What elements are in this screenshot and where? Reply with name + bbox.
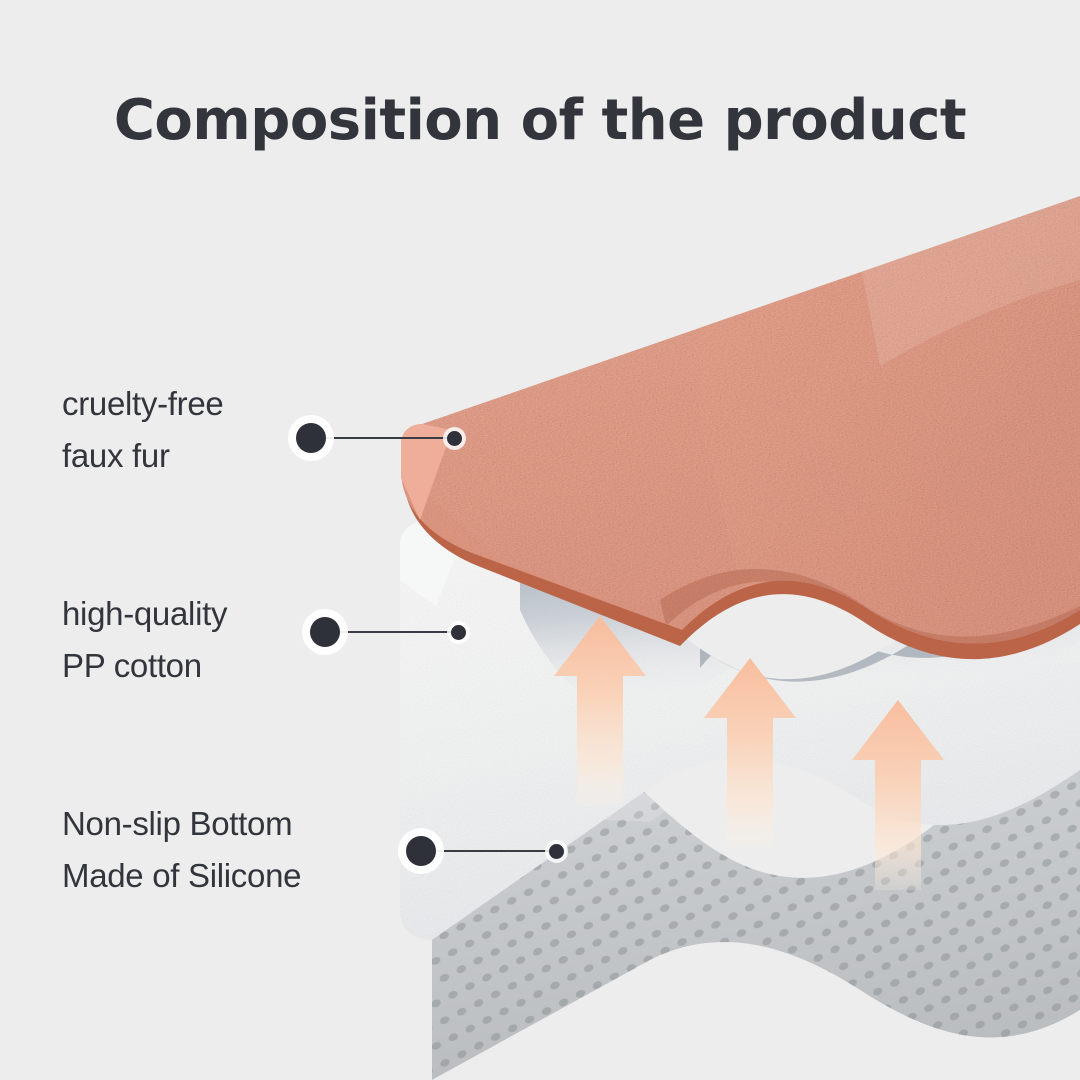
callout-1-line-2: faux fur [62,434,170,478]
callout-2-line-2: PP cotton [62,644,202,688]
callout-2-line-1: high-quality [62,592,227,636]
callout-3-dot[interactable] [406,836,436,866]
callout-3-leader-line [433,850,559,852]
callout-2-dot[interactable] [310,617,340,647]
callout-1-dot[interactable] [296,423,326,453]
callout-3-line-1: Non-slip Bottom [62,802,292,846]
callout-3-anchor-dot [549,844,564,859]
product-layers-illustration [0,0,1080,1080]
callout-2-leader-line [337,631,461,633]
callout-1-line-1: cruelty-free [62,382,223,426]
infographic-canvas: Composition of the product [0,0,1080,1080]
callout-2-anchor-dot [451,625,466,640]
callout-1-leader-line [323,437,460,439]
callout-3-line-2: Made of Silicone [62,854,301,898]
callout-1-anchor-dot [447,431,462,446]
